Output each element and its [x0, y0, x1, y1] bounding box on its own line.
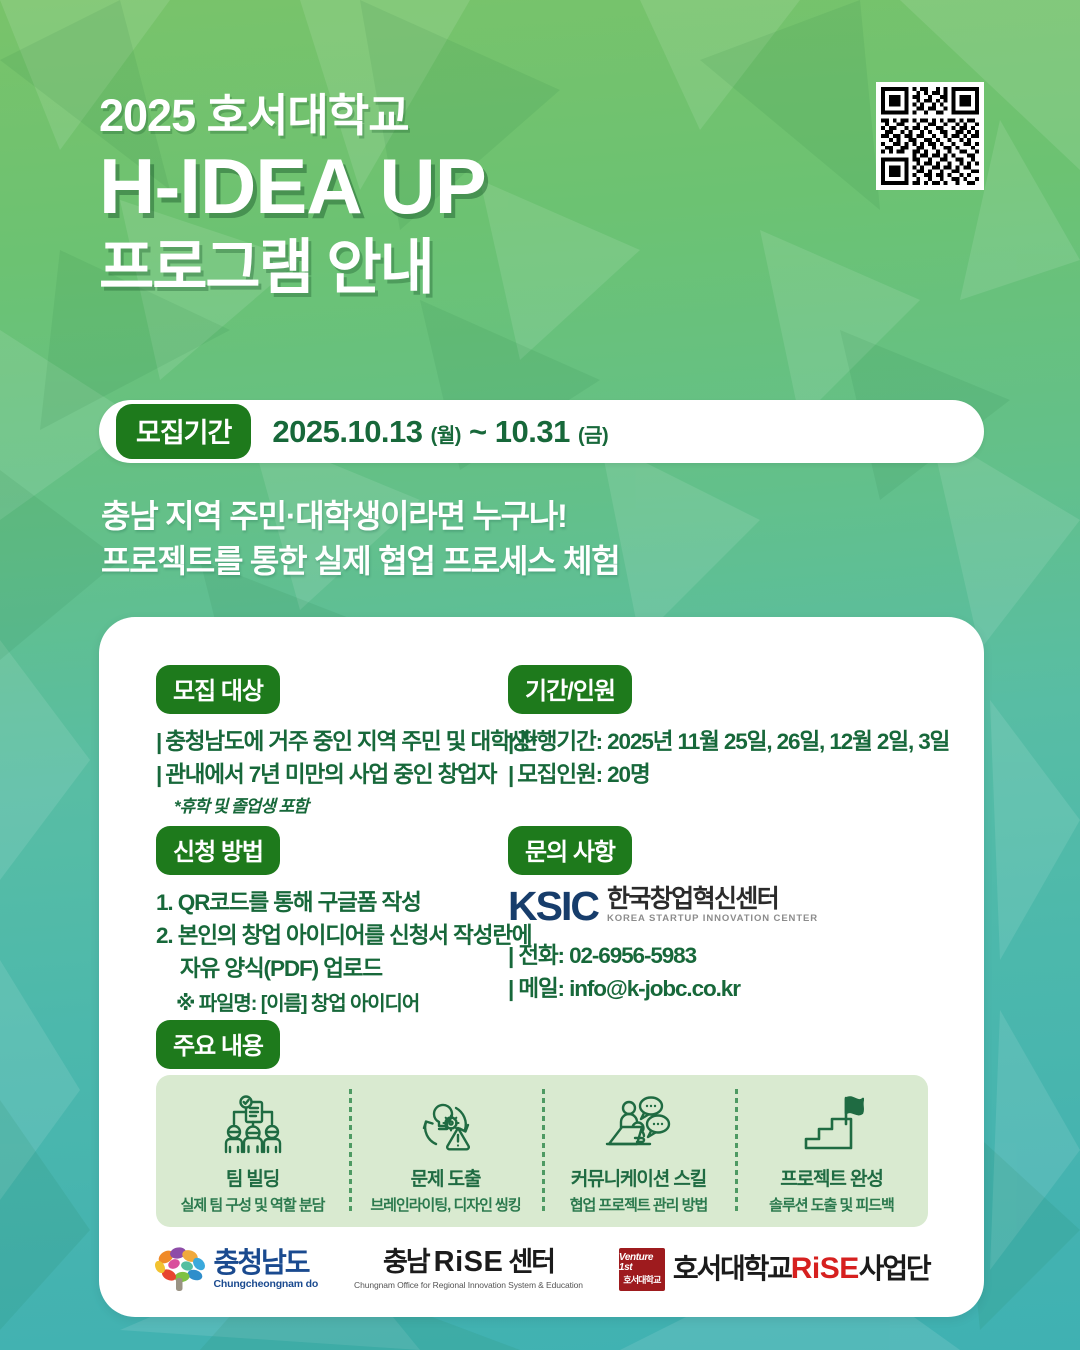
poster-header: 2025 호서대학교 H-IDEA UP 프로그램 안내	[99, 92, 799, 302]
list-item: 자유 양식(PDF) 업로드	[156, 952, 532, 985]
period-start-day: (월)	[431, 425, 461, 447]
section-schedule-list: |진행기간: 2025년 11월 25일, 26일, 12월 2일, 3일 |모…	[508, 725, 949, 791]
list-item-text: 관내에서 7년 미만의 사업 중인 창업자	[165, 762, 496, 787]
qr-code-icon	[881, 87, 979, 185]
section-main-content: 주요 내용	[156, 1020, 280, 1069]
lead-line-1: 충남 지역 주민·대학생이라면 누구나!	[101, 494, 620, 539]
footer-logos: 충청남도 Chungcheongnam do 충남RiSE센터 Chungnam…	[99, 1245, 984, 1293]
ksic-wordmark: KSIC	[508, 888, 598, 926]
list-item-text: 충청남도에 거주 중인 지역 주민 및 대학생*	[165, 729, 537, 754]
section-target-list: |충청남도에 거주 중인 지역 주민 및 대학생* |관내에서 7년 미만의 사…	[156, 725, 537, 791]
recruitment-period-bar: 모집기간 2025.10.13 (월) ~ 10.31 (금)	[99, 400, 984, 463]
section-apply-badge: 신청 방법	[156, 826, 280, 875]
hoseo-venture-badge: Venture 1st 호서대학교	[619, 1248, 665, 1291]
flag-stairs-icon	[800, 1091, 864, 1157]
section-apply: 신청 방법 1. QR코드를 통해 구글폼 작성 2. 본인의 창업 아이디어를…	[156, 826, 532, 1016]
feature-desc: 협업 프로젝트 관리 방법	[570, 1194, 708, 1215]
lightbulb-gear-icon	[414, 1091, 478, 1157]
list-item: 2. 본인의 창업 아이디어를 신청서 작성란에	[156, 919, 532, 952]
list-item-text: 진행기간: 2025년 11월 25일, 26일, 12월 2일, 3일	[517, 729, 949, 754]
feature-project-completion: 프로젝트 완성 솔루션 도출 및 피드백	[735, 1075, 928, 1227]
feature-strip: 팀 빌딩 실제 팀 구성 및 역할 분담	[156, 1075, 928, 1227]
bullet-bar: |	[508, 729, 513, 754]
qr-code[interactable]	[876, 82, 984, 190]
chungcheongnam-do-logo: 충청남도 Chungcheongnam do	[154, 1245, 319, 1293]
list-item: |충청남도에 거주 중인 지역 주민 및 대학생*	[156, 725, 537, 758]
feature-desc: 실제 팀 구성 및 역할 분담	[181, 1194, 325, 1215]
contact-email[interactable]: | 메일: info@k-jobc.co.kr	[508, 972, 818, 1005]
period-separator: ~	[469, 414, 487, 449]
section-target: 모집 대상 |충청남도에 거주 중인 지역 주민 및 대학생* |관내에서 7년…	[156, 665, 537, 817]
chungcheongnam-do-text: 충청남도 Chungcheongnam do	[214, 1249, 319, 1290]
period-value: 2025.10.13 (월) ~ 10.31 (금)	[272, 414, 608, 450]
year-line: 2025 호서대학교	[99, 92, 799, 139]
section-contact: 문의 사항 KSIC 한국창업혁신센터 KOREA STARTUP INNOVA…	[508, 826, 818, 1005]
ksic-name-en: KOREA STARTUP INNOVATION CENTER	[607, 914, 818, 924]
section-apply-note: ※ 파일명: [이름] 창업 아이디어	[176, 987, 532, 1016]
ksic-name-block: 한국창업혁신센터 KOREA STARTUP INNOVATION CENTER	[607, 887, 818, 926]
feature-desc: 솔루션 도출 및 피드백	[769, 1194, 894, 1215]
chungcheongnam-do-flower-icon	[154, 1245, 206, 1293]
hoseo-rise-logo: Venture 1st 호서대학교 호서대학교RiSE사업단	[619, 1248, 930, 1291]
feature-communication: 커뮤니케이션 스킬 협업 프로젝트 관리 방법	[542, 1075, 735, 1227]
communication-icon	[605, 1091, 673, 1157]
bullet-bar: |	[156, 762, 161, 787]
section-schedule: 기간/인원 |진행기간: 2025년 11월 25일, 26일, 12월 2일,…	[508, 665, 949, 791]
contact-list: | 전화: 02-6956-5983 | 메일: info@k-jobc.co.…	[508, 939, 818, 1005]
list-item-text: 모집인원: 20명	[517, 762, 649, 787]
list-item: 1. QR코드를 통해 구글폼 작성	[156, 886, 532, 919]
lead-copy: 충남 지역 주민·대학생이라면 누구나! 프로젝트를 통한 실제 협업 프로세스…	[101, 494, 620, 585]
list-item: |모집인원: 20명	[508, 758, 949, 791]
info-card: 모집 대상 |충청남도에 거주 중인 지역 주민 및 대학생* |관내에서 7년…	[99, 617, 984, 1317]
hoseo-badge-line1: Venture 1st	[619, 1253, 665, 1273]
feature-title: 문제 도출	[411, 1164, 481, 1191]
logo-name-en: Chungcheongnam do	[214, 1279, 319, 1290]
hoseo-logo-ko2: 사업단	[859, 1253, 930, 1284]
chungnam-rise-center-logo: 충남RiSE센터 Chungnam Office for Regional In…	[354, 1248, 583, 1290]
ksic-name-ko: 한국창업혁신센터	[607, 887, 818, 912]
page-subtitle: 프로그램 안내	[99, 233, 799, 302]
ksic-logo: KSIC 한국창업혁신센터 KOREA STARTUP INNOVATION C…	[508, 887, 818, 926]
lead-line-2: 프로젝트를 통한 실제 협업 프로세스 체험	[101, 539, 620, 584]
period-start: 2025.10.13	[272, 414, 422, 449]
list-item: |관내에서 7년 미만의 사업 중인 창업자	[156, 758, 537, 791]
contact-phone[interactable]: | 전화: 02-6956-5983	[508, 939, 818, 972]
section-contact-badge: 문의 사항	[508, 826, 632, 875]
rise-logo-ko1: 충남	[383, 1247, 429, 1277]
feature-team-building: 팀 빌딩 실제 팀 구성 및 역할 분담	[156, 1075, 349, 1227]
team-building-icon	[221, 1091, 285, 1157]
section-main-content-badge: 주요 내용	[156, 1020, 280, 1069]
feature-title: 프로젝트 완성	[780, 1164, 882, 1191]
period-end-day: (금)	[578, 425, 608, 447]
page-title: H-IDEA UP	[99, 143, 799, 230]
rise-logo-ko2: 센터	[508, 1247, 554, 1277]
feature-title: 커뮤니케이션 스킬	[571, 1164, 706, 1191]
feature-title: 팀 빌딩	[226, 1164, 279, 1191]
section-target-badge: 모집 대상	[156, 665, 280, 714]
rise-logo-tagline: Chungnam Office for Regional Innovation …	[354, 1281, 583, 1290]
section-apply-steps: 1. QR코드를 통해 구글폼 작성 2. 본인의 창업 아이디어를 신청서 작…	[156, 886, 532, 985]
feature-problem-definition: 문제 도출 브레인라이팅, 디자인 씽킹	[349, 1075, 542, 1227]
hoseo-logo-ko1: 호서대학교	[673, 1253, 791, 1284]
period-badge: 모집기간	[116, 404, 251, 459]
hoseo-badge-line2: 호서대학교	[623, 1276, 660, 1285]
list-item: |진행기간: 2025년 11월 25일, 26일, 12월 2일, 3일	[508, 725, 949, 758]
section-schedule-badge: 기간/인원	[508, 665, 632, 714]
logo-name-ko: 충청남도	[214, 1249, 319, 1277]
feature-desc: 브레인라이팅, 디자인 씽킹	[370, 1194, 520, 1215]
rise-logo-en: RiSE	[434, 1246, 504, 1278]
hoseo-logo-en: RiSE	[791, 1252, 859, 1285]
period-end: 10.31	[495, 414, 570, 449]
section-target-note: *휴학 및 졸업생 포함	[174, 792, 537, 817]
bullet-bar: |	[508, 762, 513, 787]
bullet-bar: |	[156, 729, 161, 754]
